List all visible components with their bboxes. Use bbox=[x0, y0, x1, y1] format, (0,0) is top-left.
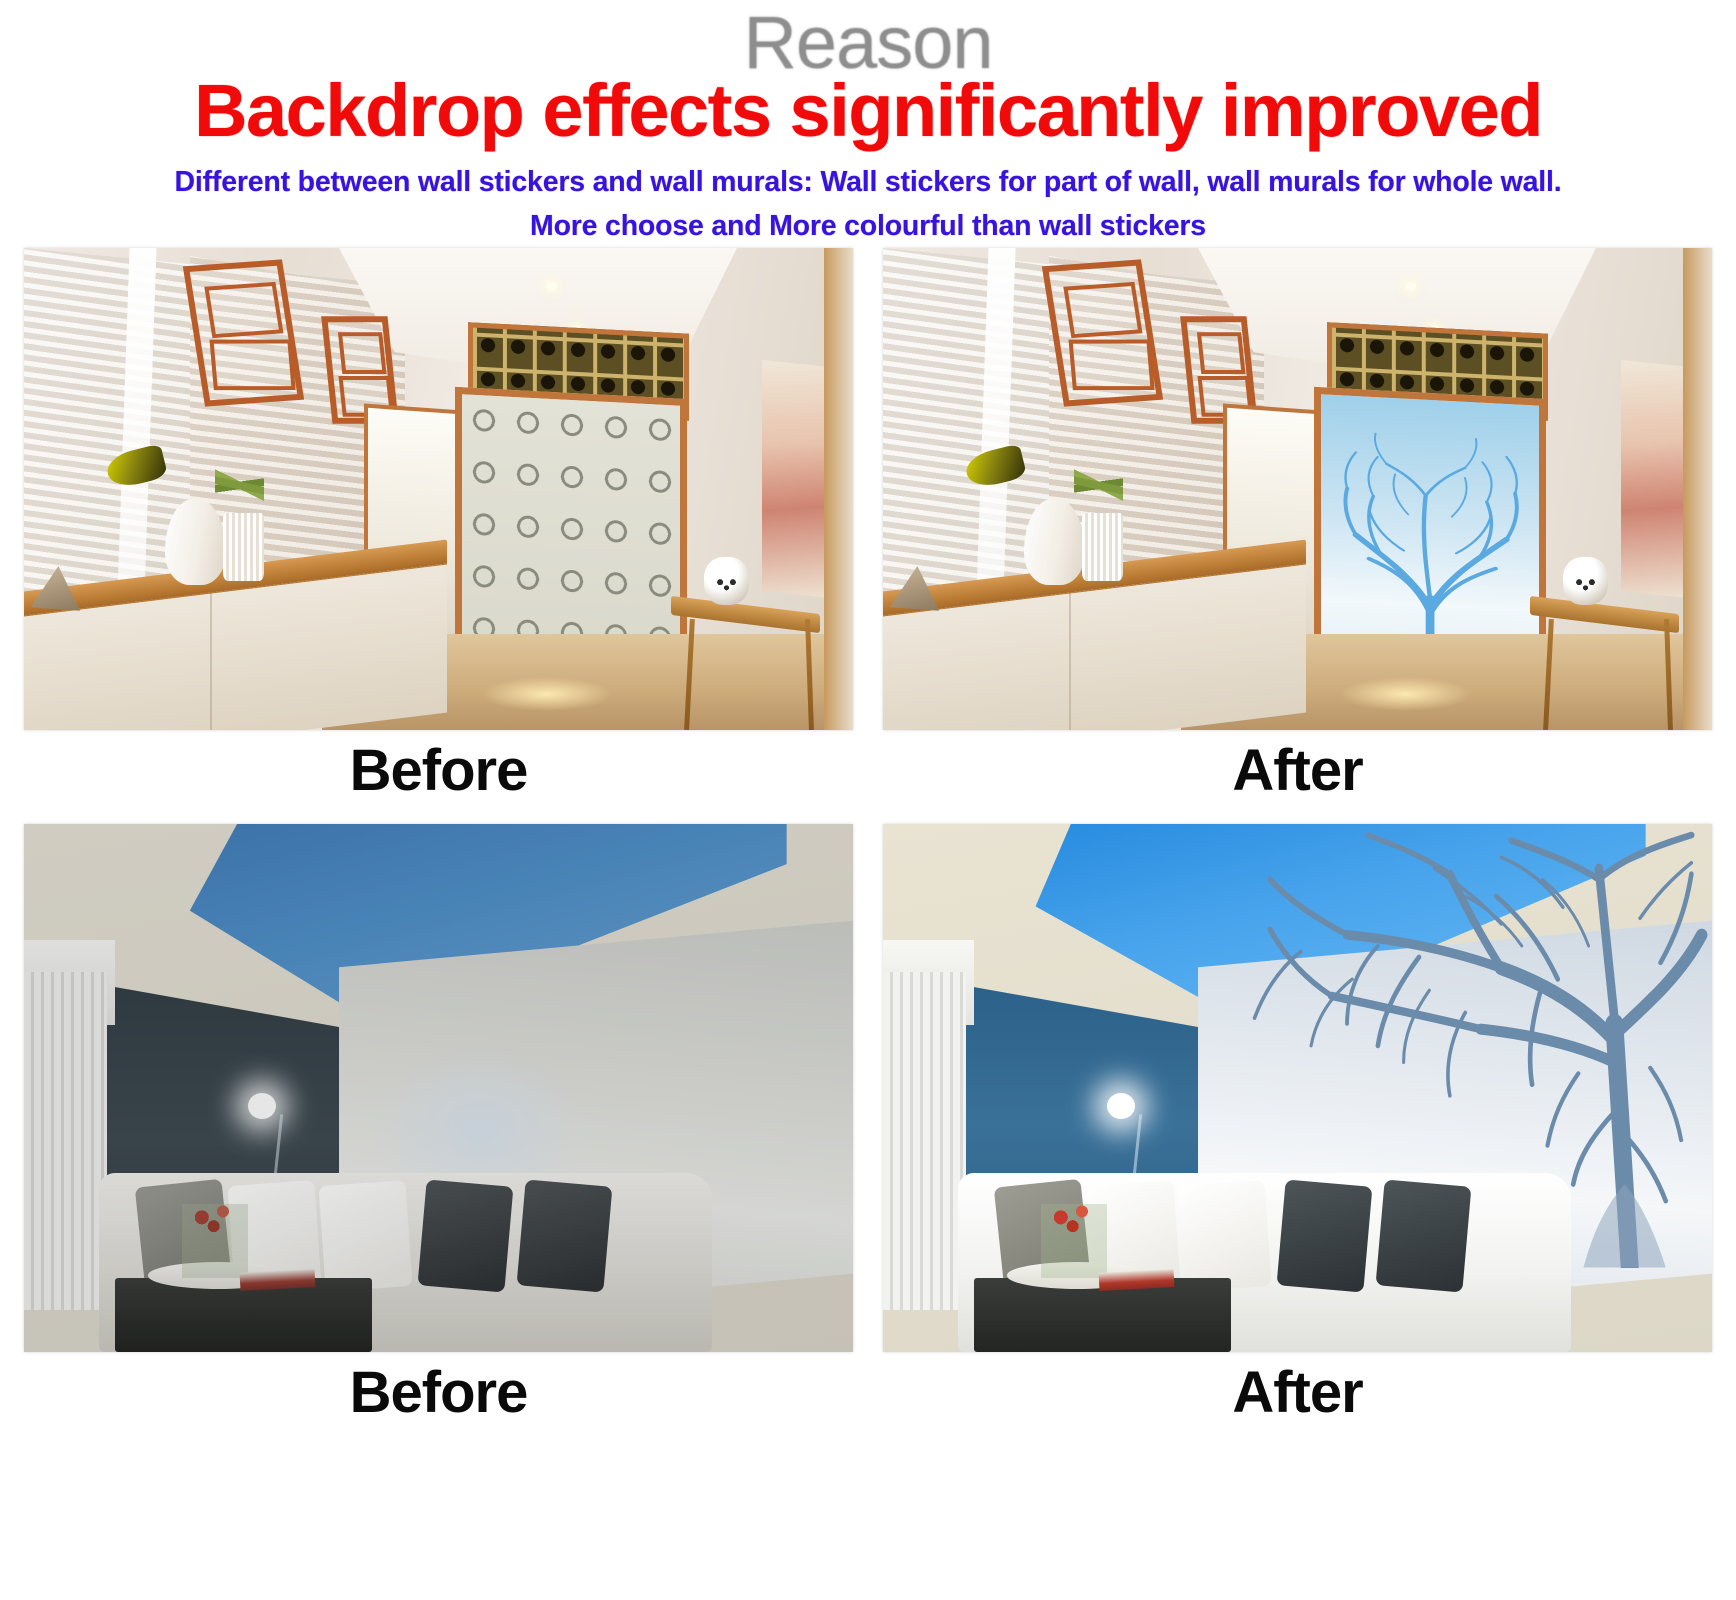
eyebrow-heading: Reason bbox=[0, 6, 1736, 80]
floor-light-reflection bbox=[480, 677, 613, 711]
right-edge-post bbox=[824, 248, 853, 730]
cushion-dark-1 bbox=[417, 1179, 513, 1292]
gallery-cell-livingroom-before[interactable]: Before bbox=[24, 824, 853, 1422]
livingroom-scene-after bbox=[883, 824, 1712, 1352]
gallery-cell-livingroom-after[interactable]: After bbox=[883, 824, 1712, 1422]
spotlight-icon bbox=[248, 1093, 276, 1119]
gallery-cell-hallway-before[interactable]: Before bbox=[24, 248, 853, 800]
hallway-scene-before bbox=[24, 248, 853, 730]
photo-hallway-after[interactable] bbox=[883, 248, 1712, 730]
cushion-dark-2 bbox=[517, 1179, 613, 1292]
ceiling-downlight-icon bbox=[546, 282, 557, 291]
hallway-scene-after bbox=[883, 248, 1712, 730]
subtitle-line-1: Different between wall stickers and wall… bbox=[175, 166, 1562, 198]
cushion-white-2 bbox=[1178, 1180, 1272, 1291]
ceramic-figurine bbox=[704, 557, 750, 605]
cushion-dark-2 bbox=[1376, 1179, 1472, 1292]
book-on-table bbox=[239, 1269, 314, 1291]
ribbed-vase bbox=[223, 513, 264, 580]
page-subtitle: Different between wall stickers and wall… bbox=[0, 160, 1736, 248]
gallery-row-livingroom: Before bbox=[0, 824, 1736, 1422]
photo-hallway-before[interactable] bbox=[24, 248, 853, 730]
comparison-gallery: Before bbox=[0, 248, 1736, 1422]
floor-light-reflection bbox=[1339, 677, 1472, 711]
gallery-cell-hallway-after[interactable]: After bbox=[883, 248, 1712, 800]
ribbed-vase bbox=[1082, 513, 1123, 580]
caption-livingroom-after: After bbox=[883, 1364, 1712, 1422]
gallery-row-hallway: Before bbox=[0, 248, 1736, 800]
caption-hallway-before: Before bbox=[24, 742, 853, 800]
radiator bbox=[883, 972, 966, 1310]
livingroom-scene-before bbox=[24, 824, 853, 1352]
photo-livingroom-before[interactable] bbox=[24, 824, 853, 1352]
spotlight-icon bbox=[1107, 1093, 1135, 1119]
photo-livingroom-after[interactable] bbox=[883, 824, 1712, 1352]
flower-vase bbox=[182, 1204, 248, 1278]
row-spacer bbox=[0, 800, 1736, 824]
flower-vase bbox=[1041, 1204, 1107, 1278]
right-edge-post bbox=[1683, 248, 1712, 730]
cushion-dark-1 bbox=[1276, 1179, 1372, 1292]
cushion-white-2 bbox=[319, 1180, 413, 1291]
page-header: Reason Backdrop effects significantly im… bbox=[0, 0, 1736, 248]
book-on-table bbox=[1098, 1269, 1173, 1291]
ceramic-figurine bbox=[1563, 557, 1609, 605]
caption-livingroom-before: Before bbox=[24, 1364, 853, 1422]
subtitle-line-2: More choose and More colourful than wall… bbox=[0, 204, 1736, 248]
caption-hallway-after: After bbox=[883, 742, 1712, 800]
ceiling-downlight-icon bbox=[1405, 282, 1416, 291]
radiator bbox=[24, 972, 107, 1310]
